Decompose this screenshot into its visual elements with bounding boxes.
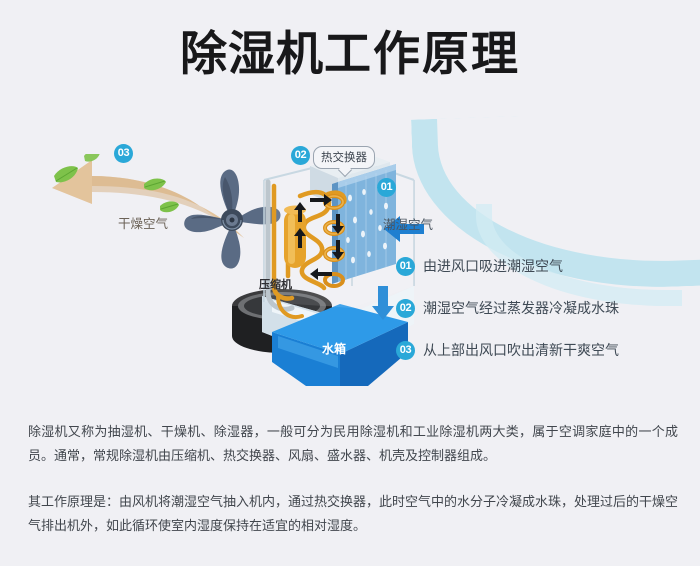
badge-dry-air-03: 03 [114,144,133,163]
label-humid-air: 潮湿空气 [383,214,433,233]
badge-humid-air-01: 01 [377,178,396,197]
legend-item-03: 03 从上部出风口吹出清新干爽空气 [396,340,676,360]
description-block: 除湿机又称为抽湿机、干燥机、除湿器，一般可分为民用除湿机和工业除湿机两大类，属于… [28,420,678,538]
description-paragraph-2: 其工作原理是：由风机将潮湿空气抽入机内，通过热交换器，此时空气中的水分子冷凝成水… [28,490,678,538]
page-title-sub: 工作原理 [324,27,520,80]
badge-heat-exchanger-02: 02 [291,146,310,165]
label-compressor: 压缩机 [259,276,292,292]
page-title-main: 除湿机 [180,27,324,80]
legend-text-01: 由进风口吸进潮湿空气 [423,256,563,276]
label-dry-air: 干燥空气 [118,213,168,232]
page-title: 除湿机工作原理 [180,28,520,80]
legend-text-03: 从上部出风口吹出清新干爽空气 [423,340,619,360]
legend-badge-02: 02 [396,299,415,318]
legend-text-02: 潮湿空气经过蒸发器冷凝成水珠 [423,298,619,318]
legend-badge-01: 01 [396,257,415,276]
legend-item-01: 01 由进风口吸进潮湿空气 [396,256,676,276]
title-area: 除湿机工作原理 [0,28,700,80]
label-water-tank: 水箱 [322,340,346,357]
heat-exchanger-callout-label: 热交换器 [321,152,367,164]
heat-exchanger-callout: 热交换器 [313,146,375,169]
legend-item-02: 02 潮湿空气经过蒸发器冷凝成水珠 [396,298,676,318]
description-paragraph-1: 除湿机又称为抽湿机、干燥机、除湿器，一般可分为民用除湿机和工业除湿机两大类，属于… [28,420,678,468]
legend-list: 01 由进风口吸进潮湿空气 02 潮湿空气经过蒸发器冷凝成水珠 03 从上部出风… [396,256,676,360]
legend-badge-03: 03 [396,341,415,360]
